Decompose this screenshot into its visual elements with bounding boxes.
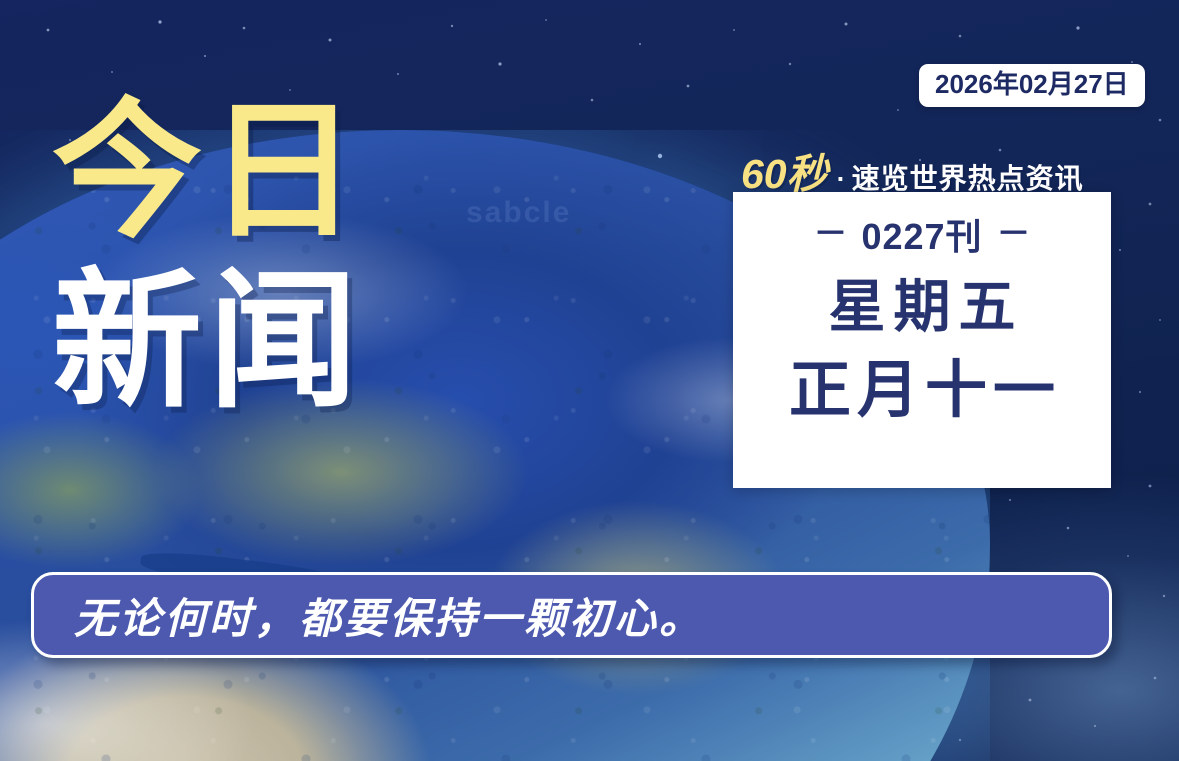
issue-dash-right-icon: － bbox=[997, 217, 1031, 251]
quote-text: 无论何时，都要保持一颗初心。 bbox=[74, 585, 704, 646]
watermark-text: sabcle bbox=[466, 196, 571, 230]
date-badge: 2026年02月27日 bbox=[919, 64, 1145, 107]
tagline-separator: · bbox=[837, 164, 846, 195]
tagline-description: 速览世界热点资讯 bbox=[852, 157, 1084, 197]
weekday-label: 星期五 bbox=[821, 276, 1024, 339]
tagline: 60秒 · 速览世界热点资讯 bbox=[741, 140, 1084, 200]
page-title-line-2: 新闻 bbox=[52, 266, 364, 416]
lunar-date-label: 正月十一 bbox=[783, 357, 1061, 425]
daily-news-poster: sabcle 今日 新闻 2026年02月27日 60秒 · 速览世界热点资讯 … bbox=[0, 0, 1179, 761]
poster-title: 今日 新闻 bbox=[52, 96, 364, 416]
issue-number-row: － 0227刊 － bbox=[813, 208, 1030, 260]
issue-number: 0227刊 bbox=[861, 208, 982, 260]
issue-dash-left-icon: － bbox=[813, 217, 847, 251]
quote-bar: 无论何时，都要保持一颗初心。 bbox=[31, 572, 1112, 658]
issue-info-card: － 0227刊 － 星期五 正月十一 bbox=[733, 192, 1111, 488]
page-title-line-1: 今日 bbox=[52, 96, 364, 246]
tagline-duration: 60秒 bbox=[741, 140, 828, 200]
